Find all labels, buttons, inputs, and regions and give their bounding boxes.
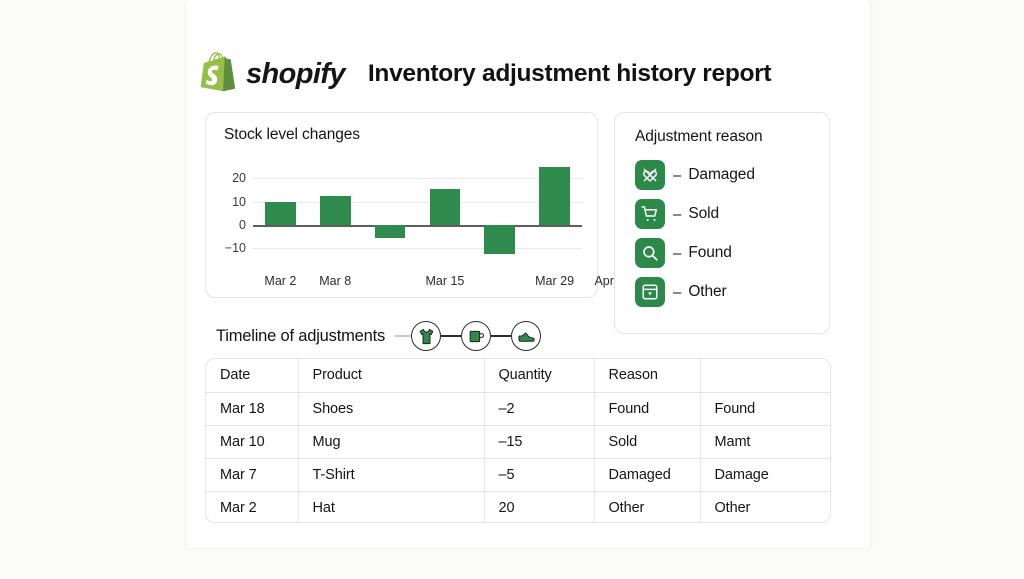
shoe-icon: [517, 327, 536, 346]
cell-quantity: –5: [484, 458, 594, 491]
adjustments-table: Date Product Quantity Reason Mar 18Shoes…: [206, 359, 831, 523]
column-header-reason[interactable]: Reason: [594, 359, 700, 392]
cell-quantity: –2: [484, 392, 594, 425]
legend-item-found[interactable]: – Found: [635, 238, 755, 268]
chart-bar[interactable]: [484, 225, 515, 254]
timeline-nodes: [411, 321, 541, 351]
x-axis-tick-label: Mar 29: [535, 274, 574, 288]
column-header-quantity[interactable]: Quantity: [484, 359, 594, 392]
cell-product: Hat: [298, 491, 484, 523]
cell-extra: Other: [700, 491, 831, 523]
timeline-link: [441, 335, 461, 337]
table-header-row: Date Product Quantity Reason: [206, 359, 831, 392]
chart-bar[interactable]: [265, 202, 296, 225]
chart-bar[interactable]: [430, 189, 461, 225]
timeline-lead-line: [395, 335, 411, 337]
cell-date: Mar 10: [206, 425, 298, 458]
gridline: 20: [253, 178, 582, 179]
timeline-of-adjustments: Timeline of adjustments: [216, 316, 606, 356]
legend-dash: –: [673, 206, 681, 223]
chart-bar[interactable]: [375, 225, 406, 238]
legend-dash: –: [673, 245, 681, 262]
search-icon: [635, 238, 665, 268]
timeline-node-shoe[interactable]: [511, 321, 541, 351]
table-row[interactable]: Mar 7T-Shirt–5DamagedDamage: [206, 458, 831, 491]
cell-extra: Mamt: [700, 425, 831, 458]
legend-dash: –: [673, 167, 681, 184]
legend-list: – Damaged – Sold: [635, 160, 755, 307]
cell-date: Mar 7: [206, 458, 298, 491]
stock-level-chart-card: Stock level changes 20100−10Mar 2Mar 8Ma…: [205, 112, 598, 298]
axis-zero-line: 0: [253, 225, 582, 227]
cell-extra: Damage: [700, 458, 831, 491]
timeline-node-mug[interactable]: [461, 321, 491, 351]
legend-label: Damaged: [688, 166, 755, 184]
adjustments-table-card: Date Product Quantity Reason Mar 18Shoes…: [205, 358, 831, 523]
cart-icon: [635, 199, 665, 229]
chart-bar[interactable]: [539, 167, 570, 225]
page-title: Inventory adjustment history report: [368, 60, 771, 88]
cell-reason: Found: [594, 392, 700, 425]
x-axis-tick-label: Mar 15: [425, 274, 464, 288]
y-axis-tick-label: 0: [239, 218, 246, 232]
gridline: −10: [253, 248, 582, 249]
timeline-node-tshirt[interactable]: [411, 321, 441, 351]
shopify-wordmark: shopify: [246, 58, 345, 91]
table-row[interactable]: Mar 2Hat20OtherOther: [206, 491, 831, 523]
shopify-bag-icon: [200, 52, 240, 96]
column-header-product[interactable]: Product: [298, 359, 484, 392]
table-row[interactable]: Mar 18Shoes–2FoundFound: [206, 392, 831, 425]
archive-box-icon: [635, 277, 665, 307]
cell-reason: Other: [594, 491, 700, 523]
cell-date: Mar 2: [206, 491, 298, 523]
legend-item-other[interactable]: – Other: [635, 277, 755, 307]
y-axis-tick-label: 20: [232, 171, 246, 185]
timeline-title: Timeline of adjustments: [216, 327, 385, 346]
legend-title: Adjustment reason: [635, 128, 763, 146]
table-row[interactable]: Mar 10Mug–15SoldMamt: [206, 425, 831, 458]
legend-item-sold[interactable]: – Sold: [635, 199, 755, 229]
column-header-extra[interactable]: [700, 359, 831, 392]
cell-date: Mar 18: [206, 392, 298, 425]
timeline-link: [491, 335, 511, 337]
chart-bar[interactable]: [320, 196, 351, 225]
cell-quantity: 20: [484, 491, 594, 523]
cell-extra: Found: [700, 392, 831, 425]
cell-quantity: –15: [484, 425, 594, 458]
report-header: shopify Inventory adjustment history rep…: [200, 50, 771, 98]
y-axis-tick-label: 10: [232, 195, 246, 209]
gridline: 10: [253, 202, 582, 203]
legend-dash: –: [673, 284, 681, 301]
damaged-icon: [635, 160, 665, 190]
cell-product: Shoes: [298, 392, 484, 425]
legend-label: Other: [688, 283, 726, 301]
tshirt-icon: [417, 327, 436, 346]
bar-chart-plot: 20100−10Mar 2Mar 8Mar 15Mar 29Apr 5: [253, 162, 582, 260]
legend-label: Sold: [688, 205, 719, 223]
legend-item-damaged[interactable]: – Damaged: [635, 160, 755, 190]
legend-label: Found: [688, 244, 731, 262]
x-axis-tick-label: Mar 8: [319, 274, 351, 288]
adjustment-reason-card: Adjustment reason – Damaged: [614, 112, 830, 334]
cell-reason: Damaged: [594, 458, 700, 491]
x-axis-tick-label: Mar 2: [264, 274, 296, 288]
cell-product: Mug: [298, 425, 484, 458]
cell-reason: Sold: [594, 425, 700, 458]
cell-product: T-Shirt: [298, 458, 484, 491]
mug-icon: [467, 327, 486, 346]
column-header-date[interactable]: Date: [206, 359, 298, 392]
chart-title: Stock level changes: [224, 126, 360, 144]
report-content: shopify Inventory adjustment history rep…: [0, 0, 1024, 579]
y-axis-tick-label: −10: [225, 241, 246, 255]
